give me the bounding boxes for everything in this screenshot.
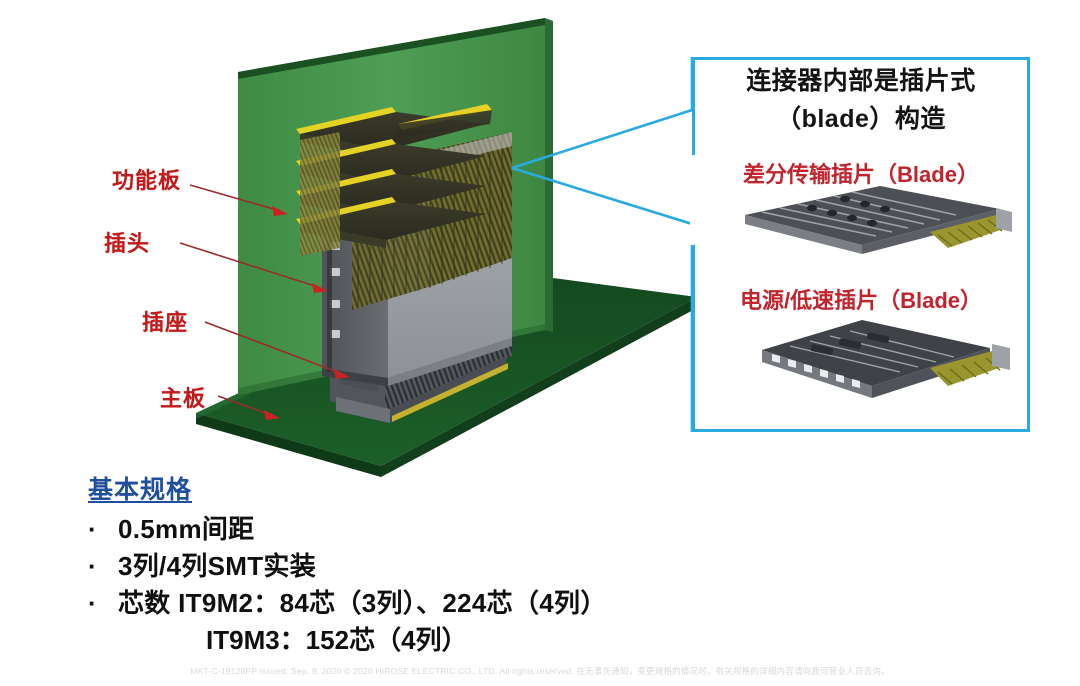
bullet-icon: · — [88, 585, 118, 622]
spec-text-mounting: 3列/4列SMT实装 — [118, 548, 316, 585]
spec-row-pin-count: · 芯数 IT9M2：84芯（3列）、224芯（4列） — [88, 585, 607, 622]
spec-text-pitch: 0.5mm间距 — [118, 511, 254, 548]
basic-spec-block: 基本规格 · 0.5mm间距 · 3列/4列SMT实装 · 芯数 IT9M2：8… — [88, 470, 607, 659]
spec-row-pitch: · 0.5mm间距 — [88, 511, 607, 548]
spec-text-pin-count: 芯数 IT9M2：84芯（3列）、224芯（4列） — [118, 585, 607, 622]
bullet-icon: · — [88, 548, 118, 585]
bullet-icon: · — [88, 511, 118, 548]
spec-heading: 基本规格 — [88, 470, 607, 506]
slide-canvas: 功能板 插头 插座 主板 连接器内部是插片式 （blade）构造 差分传输插片（… — [0, 0, 1080, 686]
spec-text-pin-count-cont: IT9M3：152芯（4列） — [88, 622, 607, 659]
footer-legal-text: MKT-C-19128PP Issued: Sep. 9, 2020 © 202… — [0, 665, 1080, 677]
spec-row-mounting: · 3列/4列SMT实装 — [88, 548, 607, 585]
